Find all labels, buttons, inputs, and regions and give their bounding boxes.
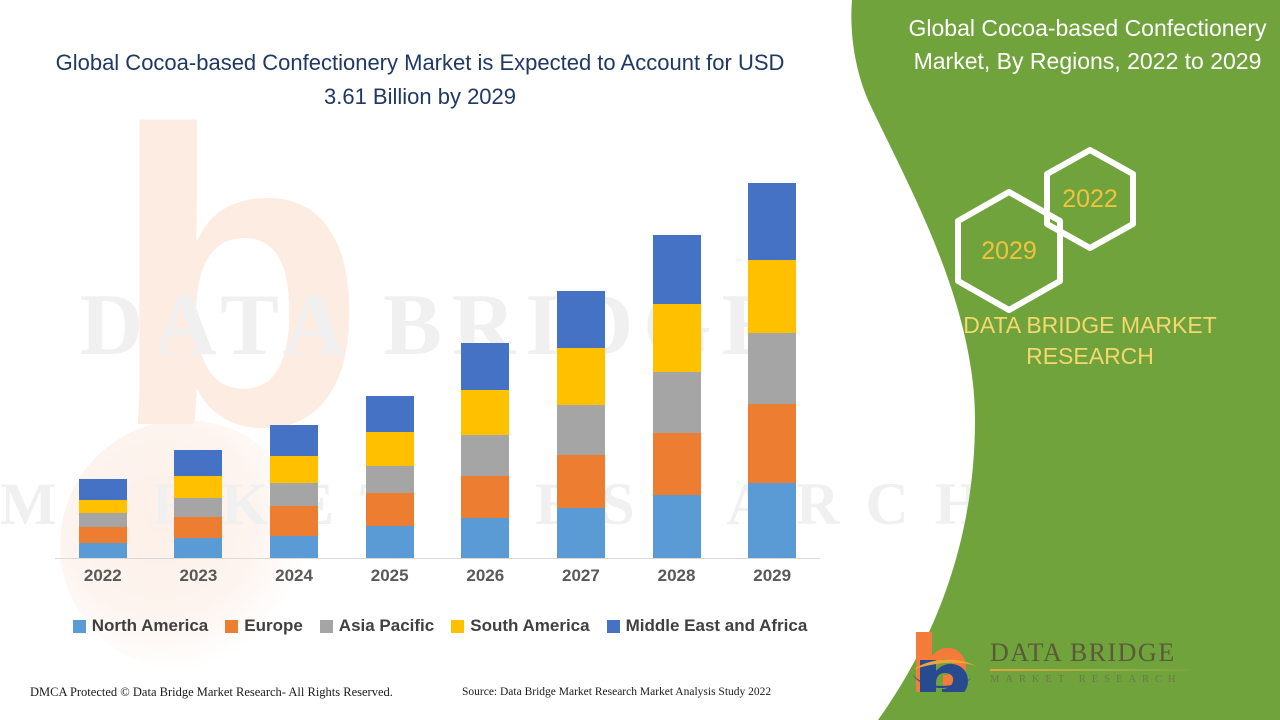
bar-segment bbox=[748, 260, 796, 333]
x-axis-label-2029: 2029 bbox=[724, 566, 820, 586]
bar-segment bbox=[461, 476, 509, 518]
bar-segment bbox=[366, 526, 414, 558]
legend-swatch-icon bbox=[607, 620, 620, 633]
logo-mark-icon bbox=[910, 630, 988, 692]
bar-column-2029 bbox=[748, 183, 796, 558]
logo-tagline: MARKET RESEARCH bbox=[990, 674, 1210, 685]
bar-segment bbox=[461, 518, 509, 558]
bar-segment bbox=[557, 508, 605, 558]
chart-legend: North AmericaEuropeAsia PacificSouth Ame… bbox=[55, 616, 825, 636]
hexagon-badge-end: 2029 bbox=[950, 187, 1068, 315]
bar-segment bbox=[270, 483, 318, 506]
bar-segment bbox=[653, 433, 701, 495]
bar-segment bbox=[653, 235, 701, 304]
bar-column-2026 bbox=[461, 343, 509, 558]
brand-name: DATA BRIDGE MARKET RESEARCH bbox=[910, 310, 1270, 372]
bar-column-2023 bbox=[174, 450, 222, 558]
bar-segment bbox=[461, 343, 509, 390]
bar-column-2022 bbox=[79, 479, 127, 558]
bar-segment bbox=[270, 506, 318, 536]
bar-column-2027 bbox=[557, 291, 605, 558]
bar-segment bbox=[557, 405, 605, 455]
x-axis-label-2022: 2022 bbox=[55, 566, 151, 586]
data-bridge-logo: DATA BRIDGE MARKET RESEARCH bbox=[890, 628, 1220, 700]
x-axis-label-2024: 2024 bbox=[246, 566, 342, 586]
bar-segment bbox=[557, 455, 605, 508]
bar-column-2024 bbox=[270, 425, 318, 558]
x-axis-label-2028: 2028 bbox=[629, 566, 725, 586]
bar-segment bbox=[461, 435, 509, 476]
bar-segment bbox=[174, 476, 222, 498]
bar-segment bbox=[653, 495, 701, 558]
legend-swatch-icon bbox=[225, 620, 238, 633]
bar-segment bbox=[270, 456, 318, 483]
bar-segment bbox=[366, 432, 414, 466]
legend-label: Middle East and Africa bbox=[626, 616, 808, 636]
bar-segment bbox=[557, 348, 605, 405]
bar-segment bbox=[366, 396, 414, 432]
bar-column-2025 bbox=[366, 396, 414, 558]
bar-segment bbox=[748, 483, 796, 558]
bar-segment bbox=[653, 304, 701, 372]
bar-segment bbox=[79, 543, 127, 558]
hexagon-end-year: 2029 bbox=[950, 187, 1068, 315]
panel-title: Global Cocoa-based Confectionery Market,… bbox=[900, 12, 1275, 78]
bar-segment bbox=[79, 513, 127, 527]
x-axis-label-2027: 2027 bbox=[533, 566, 629, 586]
bar-segment bbox=[174, 450, 222, 476]
green-panel-content: Global Cocoa-based Confectionery Market,… bbox=[960, 0, 1280, 720]
bar-segment bbox=[270, 536, 318, 558]
legend-label: Asia Pacific bbox=[339, 616, 434, 636]
bar-segment bbox=[79, 479, 127, 500]
x-axis-label-2026: 2026 bbox=[437, 566, 533, 586]
bar-column-2028 bbox=[653, 235, 701, 558]
hexagon-badges: 2022 2029 bbox=[920, 145, 1260, 290]
bar-segment bbox=[366, 493, 414, 526]
stacked-bar-chart bbox=[55, 150, 820, 559]
bar-segment bbox=[748, 333, 796, 404]
x-axis-line bbox=[55, 558, 820, 559]
bar-segment bbox=[174, 517, 222, 538]
bar-segment bbox=[366, 466, 414, 493]
bar-segment bbox=[557, 291, 605, 348]
legend-swatch-icon bbox=[451, 620, 464, 633]
bar-segment bbox=[174, 498, 222, 517]
bar-segment bbox=[174, 538, 222, 558]
legend-item[interactable]: Middle East and Africa bbox=[607, 616, 808, 636]
legend-label: Europe bbox=[244, 616, 303, 636]
x-axis-label-2023: 2023 bbox=[150, 566, 246, 586]
legend-item[interactable]: North America bbox=[73, 616, 209, 636]
dmca-notice: DMCA Protected © Data Bridge Market Rese… bbox=[30, 685, 393, 700]
bar-segment bbox=[79, 527, 127, 543]
logo-divider bbox=[990, 669, 1190, 671]
logo-text: DATA BRIDGE MARKET RESEARCH bbox=[990, 638, 1210, 685]
bar-segment bbox=[748, 404, 796, 483]
legend-item[interactable]: South America bbox=[451, 616, 589, 636]
bar-segment bbox=[748, 183, 796, 260]
logo-company-name: DATA BRIDGE bbox=[990, 638, 1210, 668]
x-axis-label-2025: 2025 bbox=[342, 566, 438, 586]
bar-segment bbox=[461, 390, 509, 435]
page-title: Global Cocoa-based Confectionery Market … bbox=[40, 46, 800, 114]
bar-segment bbox=[270, 425, 318, 456]
legend-swatch-icon bbox=[73, 620, 86, 633]
bar-segment bbox=[79, 500, 127, 513]
legend-label: North America bbox=[92, 616, 209, 636]
legend-item[interactable]: Europe bbox=[225, 616, 303, 636]
source-note: Source: Data Bridge Market Research Mark… bbox=[462, 686, 771, 698]
legend-label: South America bbox=[470, 616, 589, 636]
bar-segment bbox=[653, 372, 701, 433]
chart-panel: Global Cocoa-based Confectionery Market … bbox=[0, 0, 870, 720]
legend-item[interactable]: Asia Pacific bbox=[320, 616, 434, 636]
x-axis-labels: 20222023202420252026202720282029 bbox=[55, 566, 820, 596]
legend-swatch-icon bbox=[320, 620, 333, 633]
